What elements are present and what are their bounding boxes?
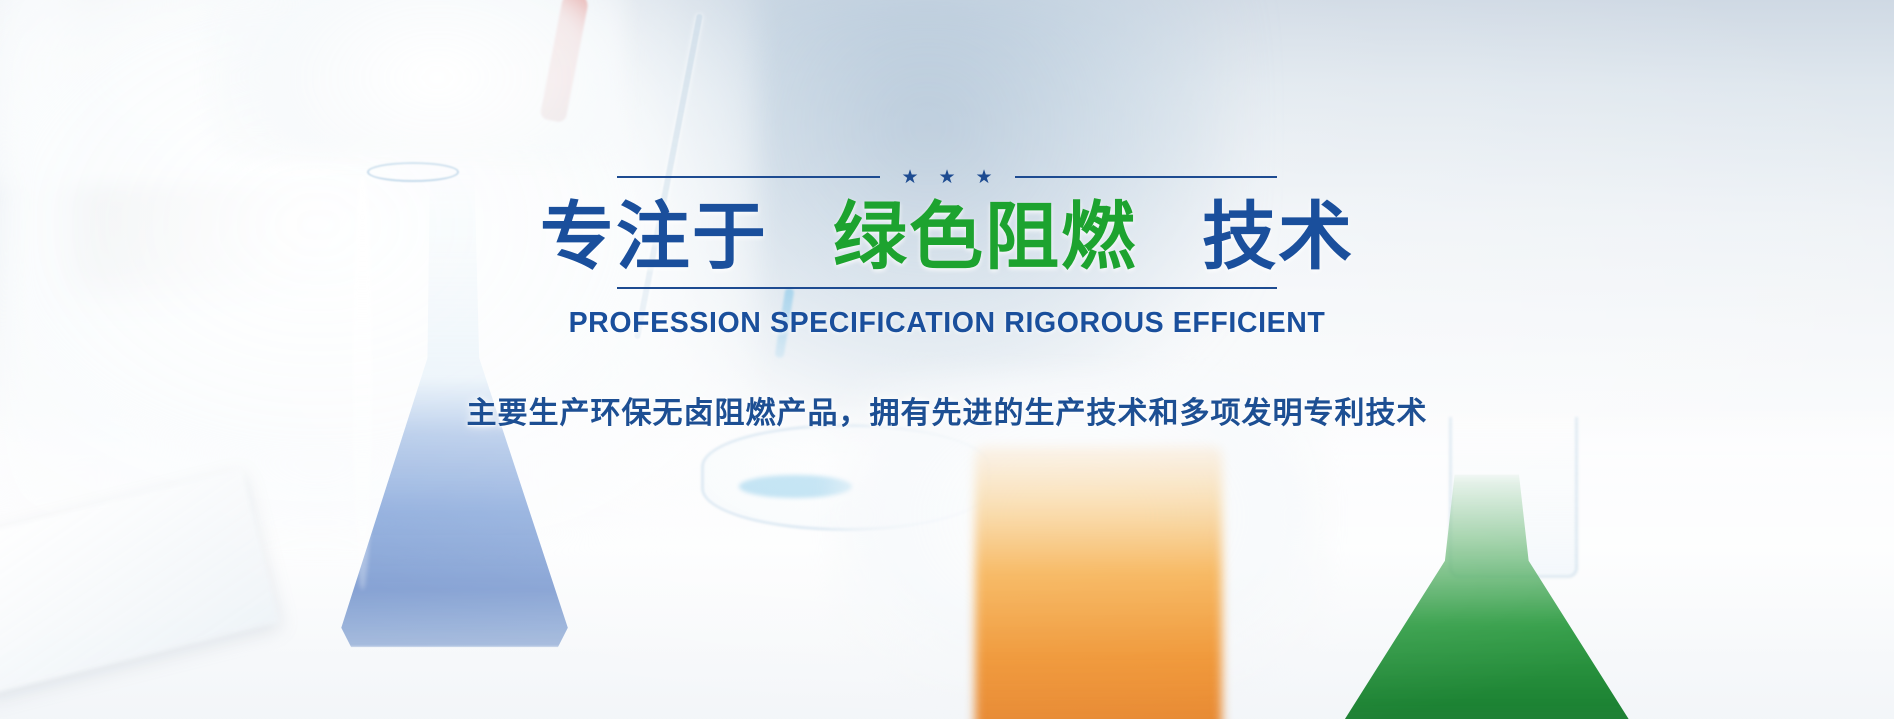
divider-rule-left	[617, 176, 880, 178]
headline-part-focus: 专注于	[540, 195, 768, 278]
star-icon: ★	[939, 169, 956, 186]
star-group: ★ ★ ★	[880, 169, 1015, 186]
star-icon: ★	[976, 169, 993, 186]
banner-tagline: 主要生产环保无卤阻燃产品，拥有先进的生产技术和多项发明专利技术	[467, 388, 1428, 432]
banner-subtitle: PROFESSION SPECIFICATION RIGOROUS EFFICI…	[569, 307, 1326, 340]
headline-part-technology: 技术	[1202, 195, 1354, 278]
banner-content: ★ ★ ★ 专注于 绿色阻燃 技术 PROFESSION SPECIFICATI…	[0, 168, 1894, 432]
star-icon: ★	[902, 169, 919, 186]
decorative-divider: ★ ★ ★	[617, 168, 1277, 186]
banner-headline: 专注于 绿色阻燃 技术	[540, 196, 1354, 279]
headline-underline	[617, 287, 1277, 289]
headline-part-green-fr: 绿色阻燃	[833, 195, 1137, 278]
hero-banner: ★ ★ ★ 专注于 绿色阻燃 技术 PROFESSION SPECIFICATI…	[0, 0, 1894, 719]
divider-rule-right	[1015, 176, 1278, 178]
